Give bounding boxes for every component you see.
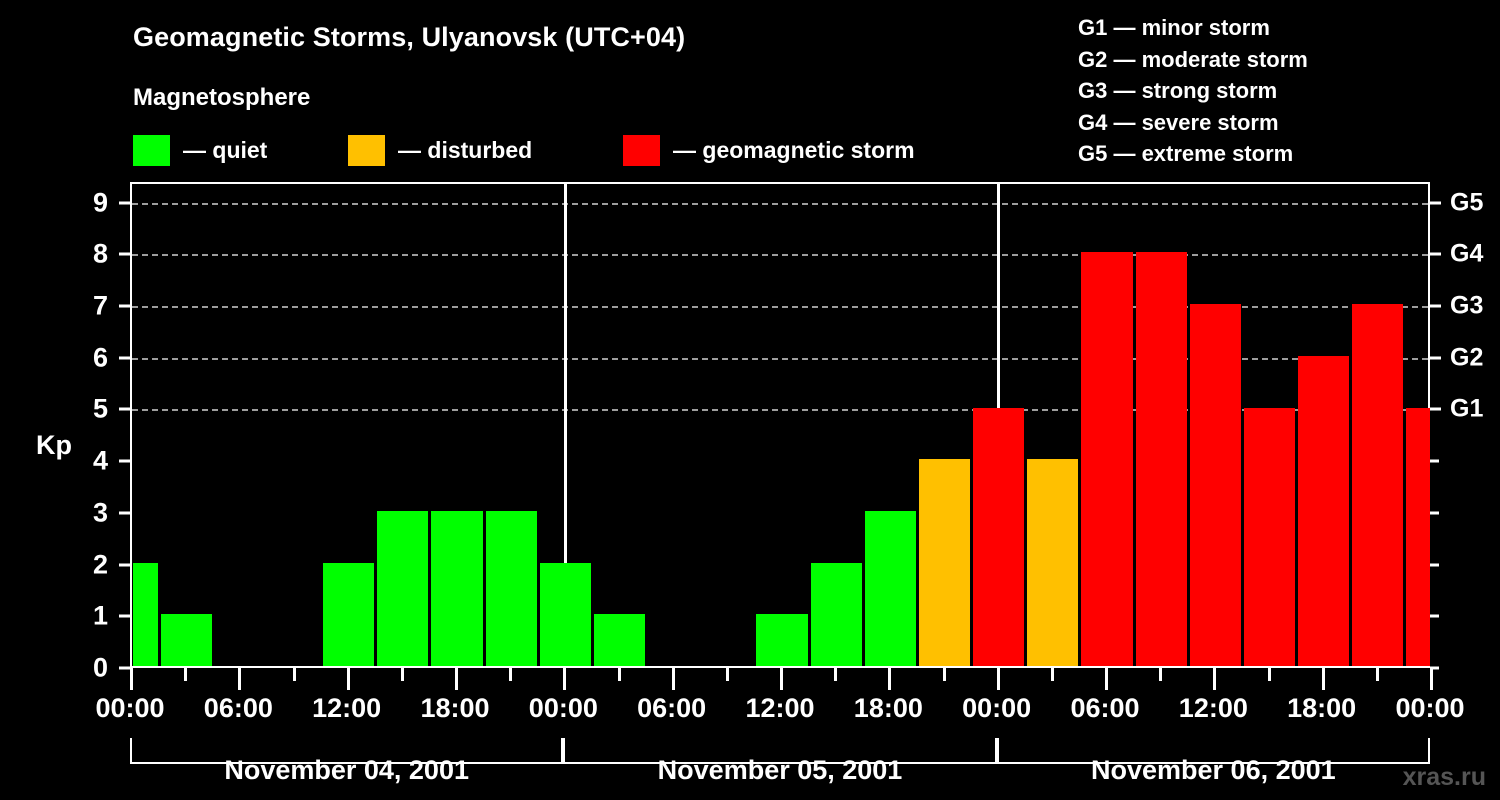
x-tick-mark-36h xyxy=(780,668,783,690)
page-title: Geomagnetic Storms, Ulyanovsk (UTC+04) xyxy=(133,22,685,53)
legend-item-1: — disturbed xyxy=(348,133,532,167)
x-tick-mark-57h xyxy=(1159,668,1162,681)
bar-kp-1 xyxy=(161,614,212,666)
bar-kp-5 xyxy=(1406,408,1430,667)
x-tick-mark-0h xyxy=(130,668,133,690)
y-tick-mark-8 xyxy=(119,253,130,256)
x-tick-mark-6h xyxy=(238,668,241,690)
x-tick-mark-63h xyxy=(1268,668,1271,681)
g-tick-mark-G3 xyxy=(1430,305,1441,308)
y-tick-mark-4 xyxy=(119,460,130,463)
y-tick-label-4: 4 xyxy=(68,446,108,477)
y-tick-label-2: 2 xyxy=(68,549,108,580)
bar-kp-3 xyxy=(431,511,482,666)
bar-kp-7 xyxy=(1352,304,1403,666)
x-tick-mark-3h xyxy=(184,668,187,681)
legend-label-0: — quiet xyxy=(183,137,267,164)
g-minor-tick-3 xyxy=(1430,511,1439,514)
x-tick-mark-18h xyxy=(455,668,458,690)
chart-subtitle: Magnetosphere xyxy=(133,84,310,112)
disturbed-swatch xyxy=(348,135,385,166)
g-tick-label-G1: G1 xyxy=(1450,395,1483,424)
x-tick-mark-48h xyxy=(997,668,1000,690)
x-tick-mark-24h xyxy=(563,668,566,690)
x-tick-mark-15h xyxy=(401,668,404,681)
g-scale-line-2: G2 — moderate storm xyxy=(1078,44,1308,76)
legend-label-1: — disturbed xyxy=(398,137,532,164)
x-tick-label-3: 18:00 xyxy=(420,693,489,724)
x-tick-label-9: 06:00 xyxy=(1070,693,1139,724)
g-minor-tick-2 xyxy=(1430,563,1439,566)
y-tick-mark-7 xyxy=(119,305,130,308)
bar-kp-3 xyxy=(486,511,537,666)
g-minor-tick-1 xyxy=(1430,615,1439,618)
x-tick-mark-42h xyxy=(888,668,891,690)
g-tick-label-G5: G5 xyxy=(1450,188,1483,217)
bar-kp-2 xyxy=(540,563,591,666)
bar-kp-3 xyxy=(377,511,428,666)
x-tick-label-4: 00:00 xyxy=(529,693,598,724)
legend-label-2: — geomagnetic storm xyxy=(673,137,915,164)
storm-swatch xyxy=(623,135,660,166)
y-tick-label-8: 8 xyxy=(68,239,108,270)
y-tick-label-9: 9 xyxy=(68,187,108,218)
y-tick-mark-9 xyxy=(119,201,130,204)
bar-kp-1 xyxy=(756,614,807,666)
watermark: xras.ru xyxy=(1403,763,1486,792)
y-tick-label-3: 3 xyxy=(68,497,108,528)
y-tick-mark-6 xyxy=(119,356,130,359)
bar-kp-5 xyxy=(1244,408,1295,667)
g-tick-label-G3: G3 xyxy=(1450,292,1483,321)
x-tick-mark-12h xyxy=(347,668,350,690)
bar-kp-2 xyxy=(323,563,374,666)
bar-kp-7 xyxy=(1190,304,1241,666)
bar-kp-8 xyxy=(1081,252,1132,666)
y-tick-mark-0 xyxy=(119,667,130,670)
bar-kp-1 xyxy=(594,614,645,666)
x-tick-mark-69h xyxy=(1376,668,1379,681)
y-axis-label: Kp xyxy=(36,430,72,461)
x-tick-mark-54h xyxy=(1105,668,1108,690)
x-tick-mark-39h xyxy=(834,668,837,681)
y-tick-label-5: 5 xyxy=(68,394,108,425)
g-tick-mark-G1 xyxy=(1430,408,1441,411)
y-tick-label-7: 7 xyxy=(68,291,108,322)
bar-kp-4 xyxy=(919,459,970,666)
g-scale-line-1: G1 — minor storm xyxy=(1078,12,1308,44)
y-tick-mark-1 xyxy=(119,615,130,618)
x-tick-mark-66h xyxy=(1322,668,1325,690)
day-label-2: November 05, 2001 xyxy=(658,755,903,786)
x-tick-mark-27h xyxy=(618,668,621,681)
x-tick-mark-30h xyxy=(672,668,675,690)
bar-kp-3 xyxy=(865,511,916,666)
x-tick-label-8: 00:00 xyxy=(962,693,1031,724)
g-tick-label-G2: G2 xyxy=(1450,343,1483,372)
x-tick-mark-60h xyxy=(1213,668,1216,690)
x-tick-label-10: 12:00 xyxy=(1179,693,1248,724)
x-tick-mark-72h xyxy=(1430,668,1433,690)
y-tick-mark-3 xyxy=(119,511,130,514)
bar-kp-5 xyxy=(973,408,1024,667)
x-tick-label-1: 06:00 xyxy=(204,693,273,724)
y-tick-label-6: 6 xyxy=(68,342,108,373)
x-tick-label-11: 18:00 xyxy=(1287,693,1356,724)
y-tick-mark-5 xyxy=(119,408,130,411)
x-tick-label-2: 12:00 xyxy=(312,693,381,724)
g-scale-line-3: G3 — strong storm xyxy=(1078,75,1308,107)
x-tick-mark-21h xyxy=(509,668,512,681)
g-tick-mark-G5 xyxy=(1430,201,1441,204)
x-tick-label-12: 00:00 xyxy=(1395,693,1464,724)
gridline-kp-9 xyxy=(132,203,1428,205)
y-tick-mark-2 xyxy=(119,563,130,566)
g-minor-tick-4 xyxy=(1430,460,1439,463)
bar-kp-2 xyxy=(133,563,158,666)
g-scale-line-4: G4 — severe storm xyxy=(1078,107,1308,139)
day-label-1: November 04, 2001 xyxy=(224,755,469,786)
bar-kp-8 xyxy=(1136,252,1187,666)
y-tick-label-0: 0 xyxy=(68,653,108,684)
x-tick-mark-51h xyxy=(1051,668,1054,681)
x-tick-label-6: 12:00 xyxy=(745,693,814,724)
g-scale-line-5: G5 — extreme storm xyxy=(1078,138,1308,170)
day-label-3: November 06, 2001 xyxy=(1091,755,1336,786)
gridline-kp-8 xyxy=(132,254,1428,256)
x-tick-label-5: 06:00 xyxy=(637,693,706,724)
g-tick-mark-G2 xyxy=(1430,356,1441,359)
x-tick-mark-45h xyxy=(943,668,946,681)
bar-kp-2 xyxy=(811,563,862,666)
x-tick-mark-9h xyxy=(293,668,296,681)
x-tick-mark-33h xyxy=(726,668,729,681)
x-tick-label-7: 18:00 xyxy=(854,693,923,724)
bar-kp-6 xyxy=(1298,356,1349,666)
g-tick-label-G4: G4 xyxy=(1450,240,1483,269)
plot-area xyxy=(130,182,1430,668)
quiet-swatch xyxy=(133,135,170,166)
y-tick-label-1: 1 xyxy=(68,601,108,632)
bar-kp-4 xyxy=(1027,459,1078,666)
x-tick-label-0: 00:00 xyxy=(95,693,164,724)
g-tick-mark-G4 xyxy=(1430,253,1441,256)
g-scale-legend: G1 — minor stormG2 — moderate stormG3 — … xyxy=(1078,12,1308,170)
legend-item-0: — quiet xyxy=(133,133,267,167)
chart-canvas: Geomagnetic Storms, Ulyanovsk (UTC+04) M… xyxy=(0,0,1500,800)
legend-item-2: — geomagnetic storm xyxy=(623,133,915,167)
